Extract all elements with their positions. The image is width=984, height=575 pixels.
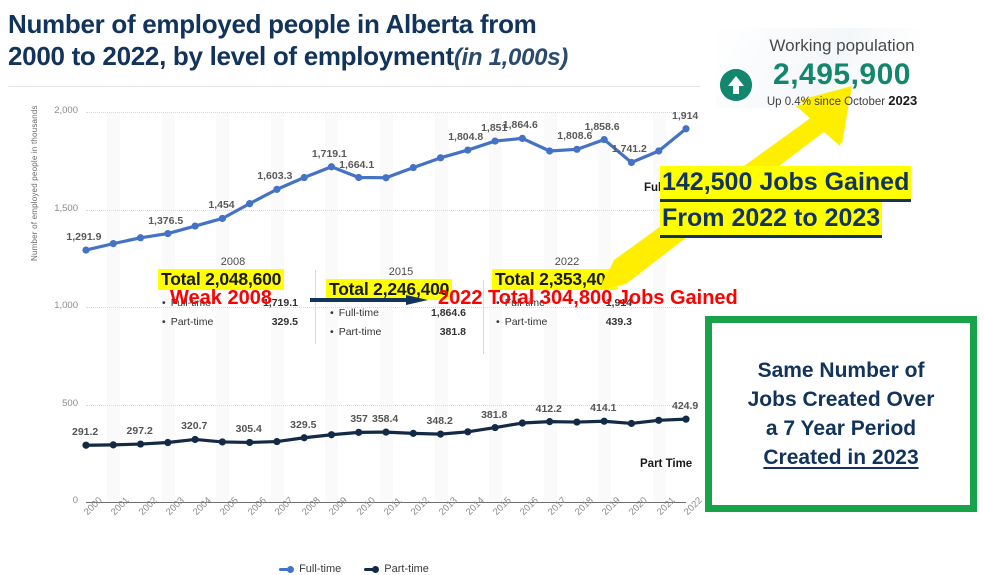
data-point [410,164,417,171]
data-point [110,441,117,448]
data-point [191,436,198,443]
full-time-markers [82,125,689,254]
data-point-label: 1,858.6 [585,121,620,133]
data-point-label: 1,376.5 [148,215,183,227]
data-point-label: 1,603.3 [257,170,292,182]
green-box-line-1: Same Number of [758,356,925,385]
weak-2008-label: Weak 2008 [170,287,272,310]
data-point [164,230,171,237]
callout-2015-parttime-row: Part-time 381.8 [326,326,476,338]
data-point [273,186,280,193]
y-tick-label: 500 [16,398,78,409]
data-point-label: 412.2 [536,403,562,415]
legend-dot-full-time [287,566,294,573]
data-point [546,418,553,425]
green-box-line-2: Jobs Created Over [748,385,935,414]
data-point [491,137,498,144]
data-point [137,234,144,241]
data-point [464,428,471,435]
data-point [628,159,635,166]
callout-2015-year: 2015 [326,266,476,278]
data-point-label: 1,864.6 [503,119,538,131]
data-point [464,146,471,153]
chart-top-rule [8,86,700,87]
data-point-label: 320.7 [181,420,207,432]
y-axis-label: Number of employed people in thousands [30,101,39,261]
data-point [437,154,444,161]
data-point [328,431,335,438]
green-callout-box: Same Number of Jobs Created Over a 7 Yea… [705,316,977,512]
data-point-label: 305.4 [236,423,262,435]
data-point [301,174,308,181]
chart-legend: Full-time Part-time [8,563,700,575]
data-point [546,147,553,154]
green-box-line-3: a 7 Year Period [766,414,916,443]
data-point [382,429,389,436]
jobs-gained-line-1: 142,500 Jobs Gained [660,166,911,202]
infographic-root: Number of employed people in Alberta fro… [0,0,984,555]
legend-label-part-time: Part-time [384,563,429,575]
data-point [437,431,444,438]
callout-2022-parttime-key: Part-time [496,316,547,328]
data-point-label: 414.1 [590,402,616,414]
data-point-label: 1,741.2 [612,143,647,155]
data-point [601,418,608,425]
title-line-1: Number of employed people in Alberta fro… [8,8,688,40]
callout-2008-parttime-row: Part-time 329.5 [158,316,308,328]
data-point [519,419,526,426]
data-point [601,136,608,143]
y-tick-label: 2,000 [16,105,78,116]
callout-2008-year: 2008 [158,256,308,268]
data-point [628,420,635,427]
page-title: Number of employed people in Alberta fro… [8,8,688,74]
title-line-2-text: 2000 to 2022, by level of employment [8,41,454,71]
callout-2008-parttime-value: 329.5 [272,316,308,328]
data-point [355,429,362,436]
data-point-label: 1,454 [208,199,234,211]
data-point [410,430,417,437]
arrow-up-circle-icon [720,69,752,101]
data-point [682,416,689,423]
green-box-line-4: Created in 2023 [763,443,918,472]
jobs-gained-2022-label: 2022 Total 304,800 Jobs Gained [438,287,738,310]
y-tick-label: 1,000 [16,300,78,311]
data-point-label: 1,291.9 [66,231,101,243]
working-population-subtext-prefix: Up 0.4% since October [767,96,888,108]
working-population-subtext-year: 2023 [888,93,917,108]
data-point-label: 1,664.1 [339,159,374,171]
callout-2015-parttime-key: Part-time [330,326,381,338]
data-point-label: 1,914 [672,110,698,122]
data-point [219,215,226,222]
data-point [655,417,662,424]
data-point-label: 291.2 [72,426,98,438]
data-point-label: 424.9 [672,400,698,412]
data-point [137,440,144,447]
data-point-label: 358.4 [372,413,398,425]
legend-label-full-time: Full-time [299,563,341,575]
data-point [82,442,89,449]
legend-dot-part-time [372,566,379,573]
working-population-title: Working population [706,36,978,56]
data-point [682,125,689,132]
full-time-line [86,129,686,250]
jobs-gained-line-2: From 2022 to 2023 [660,202,882,238]
navy-arrow-icon [310,295,430,305]
data-point [301,434,308,441]
data-point [219,438,226,445]
data-point [655,147,662,154]
data-point [246,439,253,446]
title-line-2: 2000 to 2022, by level of employment(in … [8,40,688,74]
callout-2015-parttime-value: 381.8 [440,326,476,338]
data-point-label: 297.2 [127,425,153,437]
data-point [573,418,580,425]
callout-2022-parttime-value: 439.3 [606,316,642,328]
legend-item-part-time[interactable]: Part-time [364,563,429,575]
data-point-label: 329.5 [290,419,316,431]
data-point [110,240,117,247]
data-point [246,200,253,207]
jobs-gained-callout: 142,500 Jobs Gained From 2022 to 2023 [660,166,982,238]
y-tick-label: 0 [16,495,78,506]
weak-2008-annotation: Weak 2008 2022 Total 304,800 Jobs Gained [170,283,810,317]
x-axis-ticks: 2000200120022003200420052006200720082009… [86,504,686,554]
part-time-series-label: Part Time [640,458,692,470]
data-point [519,135,526,142]
callout-2022-year: 2022 [492,256,642,268]
title-units: (in 1,000s) [454,44,568,71]
legend-item-full-time[interactable]: Full-time [279,563,341,575]
callout-2008-parttime-key: Part-time [162,316,213,328]
y-tick-label: 1,500 [16,203,78,214]
callout-2022-parttime-row: Part-time 439.3 [492,316,642,328]
data-point [82,246,89,253]
data-point-label: 381.8 [481,409,507,421]
data-point [273,438,280,445]
data-point [382,174,389,181]
data-point [355,174,362,181]
data-point [164,439,171,446]
data-point [328,163,335,170]
data-point-label: 348.2 [427,415,453,427]
data-point [491,424,498,431]
data-point-label: 357 [350,413,368,425]
data-point-label: 1,804.8 [448,131,483,143]
data-point [191,222,198,229]
data-point [573,146,580,153]
working-population-panel: Working population 2,495,900 Up 0.4% sin… [706,36,978,108]
